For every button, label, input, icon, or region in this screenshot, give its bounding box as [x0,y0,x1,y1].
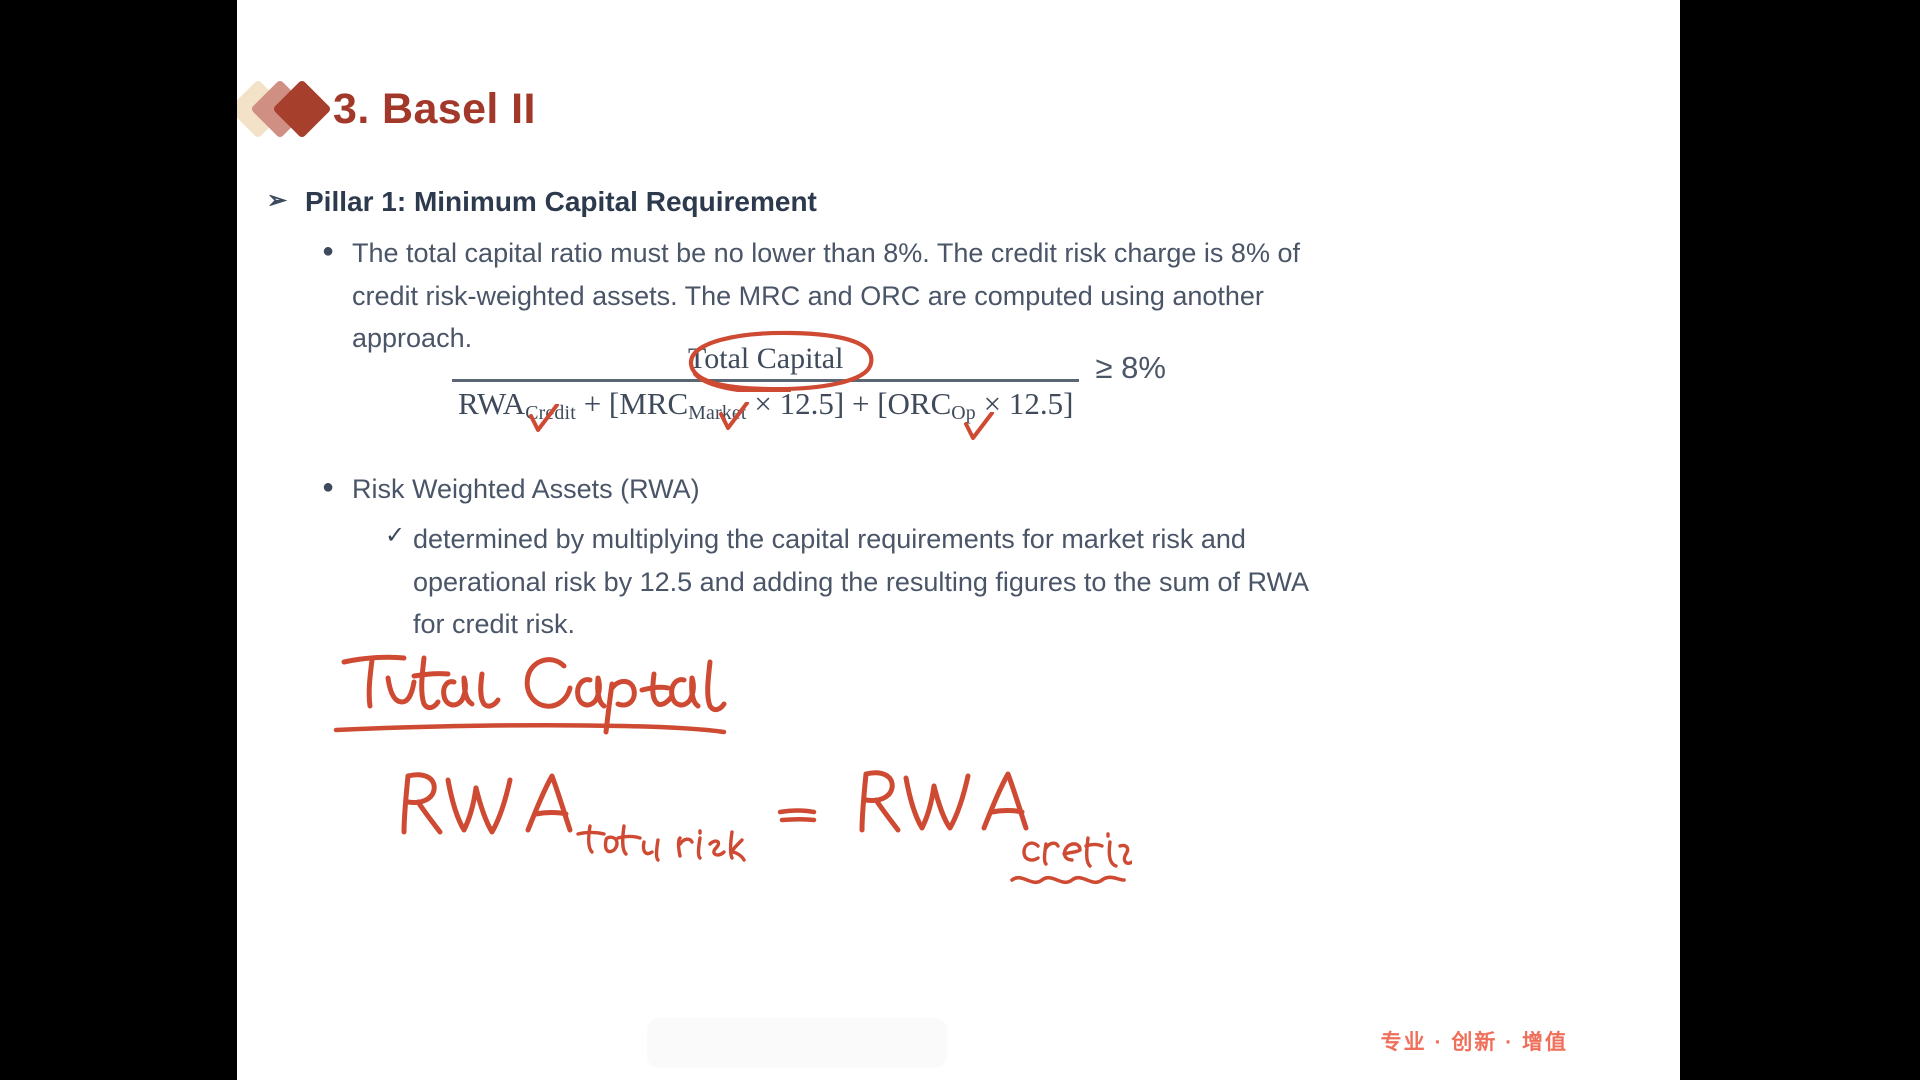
bullet-pillar1: ➢ Pillar 1: Minimum Capital Requirement [267,186,817,218]
bullet-capital-ratio-label: The total capital ratio must be no lower… [352,232,1332,360]
slide-body: ➢ Pillar 1: Minimum Capital Requirement … [237,0,1680,1080]
screen: 3. Basel II ➢ Pillar 1: Minimum Capital … [0,0,1920,1080]
bullet-rwa: ● Risk Weighted Assets (RWA) [322,468,1332,511]
bullet-rwa-label: Risk Weighted Assets (RWA) [352,468,1332,511]
formula-fraction: Total Capital RWACredit + [MRCMarket × 1… [452,342,1079,422]
capital-ratio-formula: Total Capital RWACredit + [MRCMarket × 1… [452,342,1166,422]
bullet-rwa-detail-label: determined by multiplying the capital re… [413,518,1345,646]
faint-overlay-box [647,1018,947,1068]
arrow-bullet-icon: ➢ [267,186,305,216]
footer-slogan: 专业 · 创新 · 增值 [1381,1026,1568,1056]
bullet-rwa-detail: ✓ determined by multiplying the capital … [385,518,1345,646]
dot-bullet-icon: ● [322,468,352,506]
handwriting-annotation [332,640,1132,910]
bullet-capital-ratio: ● The total capital ratio must be no low… [322,232,1332,360]
formula-numerator: Total Capital [452,342,1079,379]
formula-relation: ≥ 8% [1095,350,1165,386]
check-bullet-icon: ✓ [385,518,413,554]
formula-denominator: RWACredit + [MRCMarket × 12.5] + [ORCOp … [452,382,1079,422]
letterbox-bar-left [0,0,237,1080]
slide-canvas: 3. Basel II ➢ Pillar 1: Minimum Capital … [237,0,1680,1080]
dot-bullet-icon: ● [322,232,352,270]
bullet-pillar1-label: Pillar 1: Minimum Capital Requirement [305,186,817,218]
letterbox-bar-right [1680,0,1920,1080]
